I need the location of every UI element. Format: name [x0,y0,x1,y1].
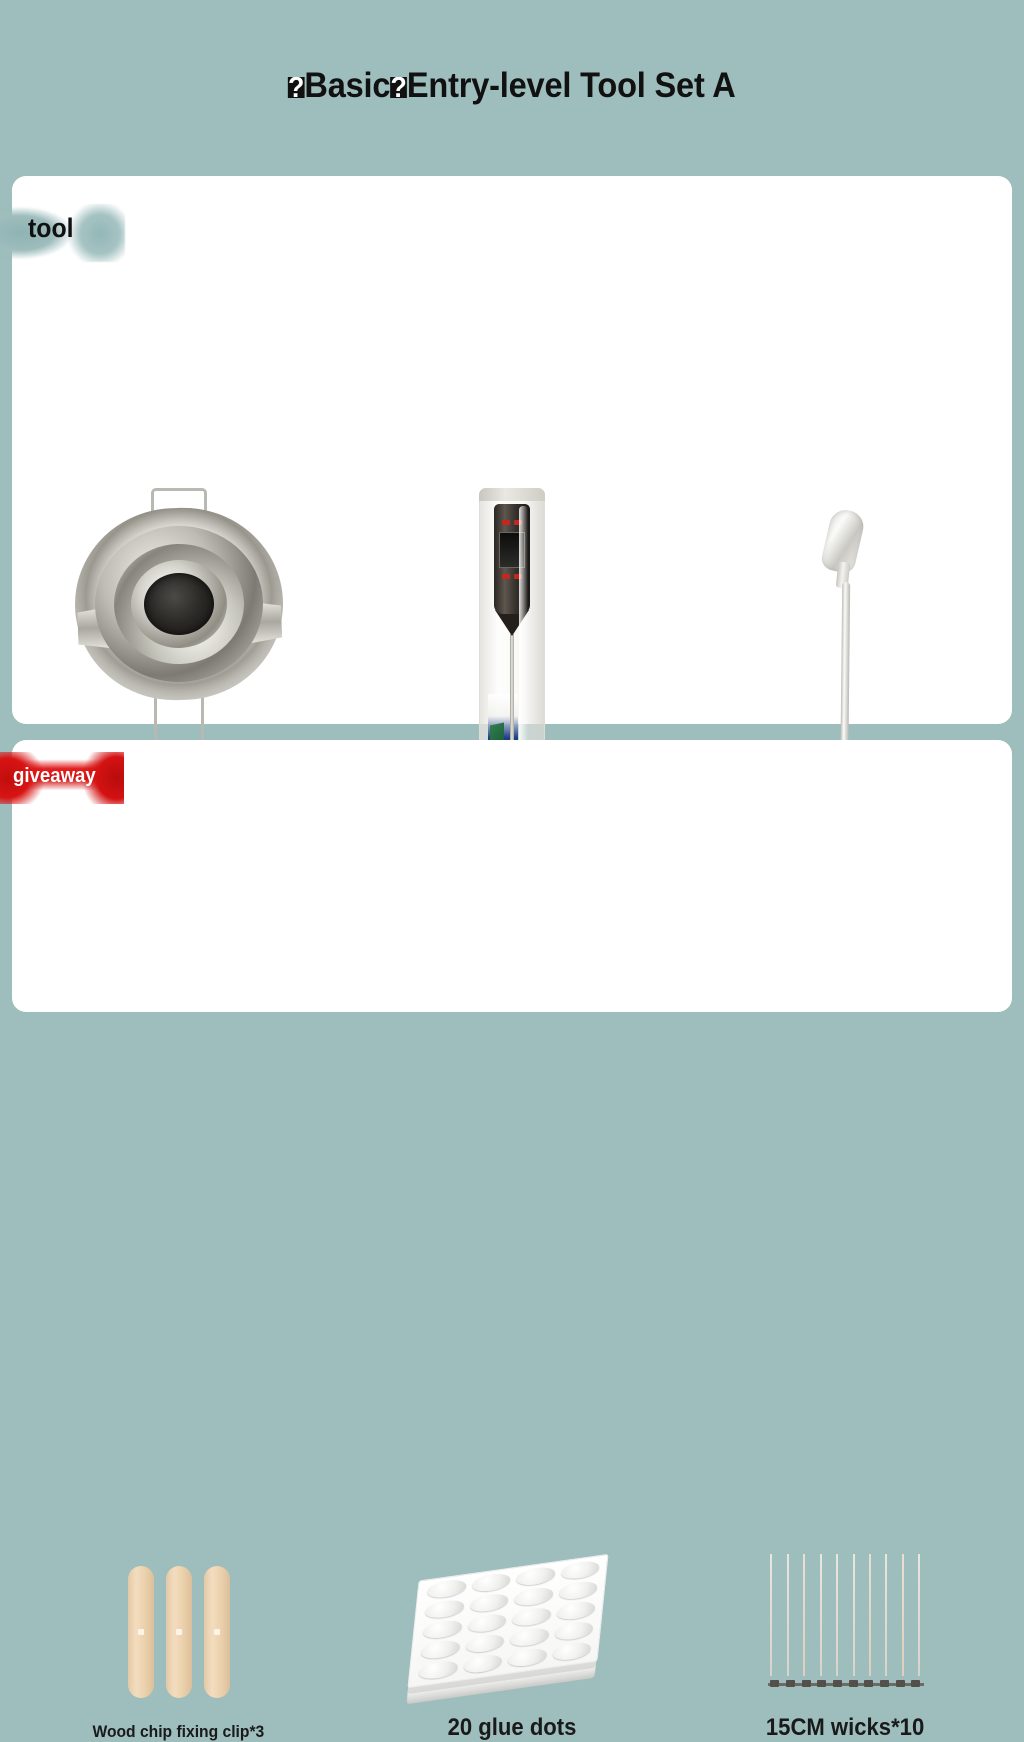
glue-dot [420,1639,460,1661]
wick [820,1554,822,1676]
wick [853,1554,855,1676]
product-cell-wood-clips[interactable]: Wood chip fixing clip*3 [12,1520,345,1742]
tool-section-badge: tool [0,204,125,262]
missing-glyph-box-right: ? [391,77,408,98]
glue-dot [513,1586,553,1608]
wick [885,1554,887,1676]
page-header: ?Basic?Entry-level Tool Set A [0,0,1024,172]
glue-dot [424,1598,464,1620]
wicks-illustration [770,1554,920,1694]
thermometer-button [502,520,510,525]
wick [770,1554,772,1676]
product-caption: 20 glue dots [448,1714,577,1742]
missing-glyph-box-left: ? [288,77,305,98]
pot-body [71,504,286,703]
wick-group [770,1554,920,1676]
product-caption: Wood chip fixing clip*3 [93,1722,265,1742]
wick-sustainer [802,1680,811,1687]
page-title: ?Basic?Entry-level Tool Set A [288,66,736,106]
wick-sustainer [817,1680,826,1687]
wick [869,1554,871,1676]
product-cell-wicks[interactable]: 15CM wicks*10 [679,1520,1012,1742]
wick-sustainer [880,1680,889,1687]
wick-sustainer [833,1680,842,1687]
wick [836,1554,838,1676]
wick-sustainer [770,1680,779,1687]
tube-cap-top [479,488,545,501]
glue-dot [558,1579,598,1601]
tools-section-card: tool Wax Melting Pot 400ML [12,176,1012,724]
glue-dot [465,1633,505,1655]
wick-sustainer [786,1680,795,1687]
wick [902,1554,904,1676]
glue-dot [469,1592,509,1614]
thermometer-button [502,574,510,579]
glue-dots-illustration [407,1554,617,1694]
giveaway-section-badge: giveaway [0,752,124,804]
glue-dot [467,1612,507,1634]
glue-dot [511,1606,551,1628]
wood-clip [128,1566,154,1698]
wick [803,1554,805,1676]
giveaway-badge-label: giveaway [13,765,96,788]
wick-sustainer [896,1680,905,1687]
wood-clip-group [128,1566,230,1698]
wood-clip [166,1566,192,1698]
wick-sustainer-group [770,1680,920,1684]
wick [787,1554,789,1676]
glue-dot [422,1619,462,1641]
glue-dot [554,1620,594,1642]
wick-sustainer [864,1680,873,1687]
candle-wicks-image [770,1544,920,1704]
wick [918,1554,920,1676]
product-caption: 15CM wicks*10 [766,1714,924,1742]
wood-chip-clip-image [128,1552,230,1712]
glue-dot [556,1600,596,1622]
glue-dot [509,1626,549,1648]
giveaway-section-card: giveaway Wood chip fixing clip*3 [12,740,1012,1012]
wick-sustainer [911,1680,920,1687]
title-text-main: Entry-level Tool Set A [407,66,736,105]
tool-badge-label: tool [28,213,74,244]
product-cell-glue-dots[interactable]: 20 glue dots [345,1520,678,1742]
wood-clip [204,1566,230,1698]
giveaway-item-row: Wood chip fixing clip*3 [12,1520,1012,1742]
glue-dots-image [407,1544,617,1704]
wick-sustainer [849,1680,858,1687]
title-text-basic: Basic [305,66,391,105]
